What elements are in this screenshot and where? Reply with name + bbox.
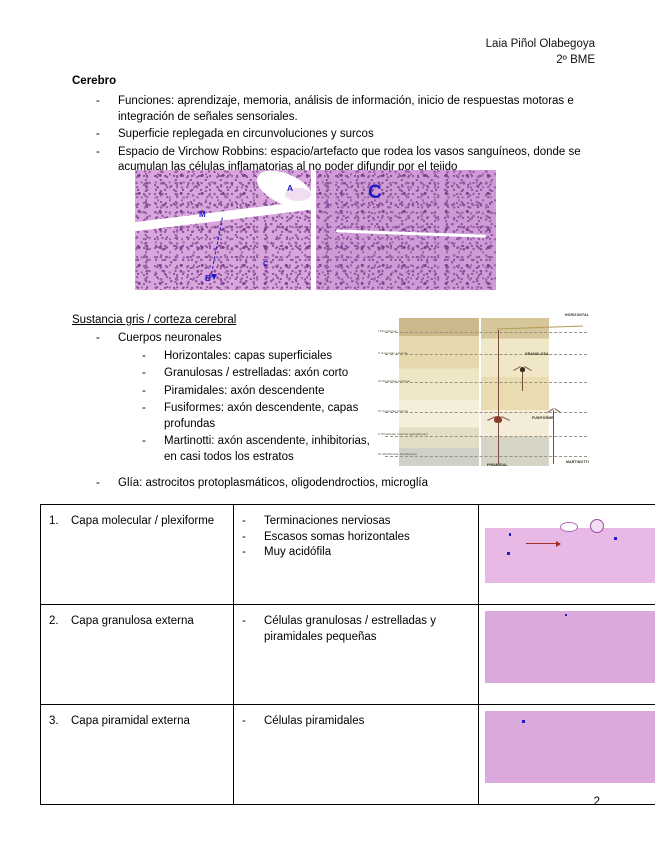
section-cerebro-title: Cerebro bbox=[72, 74, 592, 89]
bullet-dash: - bbox=[142, 349, 164, 365]
blue-marker-dot bbox=[507, 552, 510, 555]
neuron-axon-granule bbox=[522, 371, 523, 391]
figure-cortical-layers-diagram: I Plexiforme II Granular externa III Pir… bbox=[377, 310, 591, 475]
desc-item: - Células piramidales bbox=[242, 714, 470, 730]
row-number: 2. bbox=[49, 614, 71, 630]
table-row: 2. Capa granulosa externa - Células gran… bbox=[41, 605, 655, 705]
neuron-axon-pyramidal bbox=[498, 422, 499, 464]
table-cell-micrograph bbox=[479, 505, 655, 605]
sustancia-sub-4: - Fusiformes: axón descendente, capas pr… bbox=[142, 401, 372, 432]
sustancia-sub-3-text: Piramidales: axón descendente bbox=[164, 384, 372, 400]
table-cell-description: - Terminaciones nerviosas - Escasos soma… bbox=[234, 505, 479, 605]
layer-divider bbox=[385, 456, 587, 457]
sustancia-sub-5: - Martinotti: axón ascendente, inhibitor… bbox=[142, 434, 372, 465]
cajal-label-granulosa: GRANULOSA bbox=[525, 352, 549, 356]
cajal-label-fusiforme: FUSIFORME bbox=[532, 416, 554, 420]
desc-item: - Escasos somas horizontales bbox=[242, 530, 470, 546]
table-cell-layer-name: 3. Capa piramidal externa bbox=[41, 705, 234, 805]
table-cell-description: - Células granulosas / estrelladas y pir… bbox=[234, 605, 479, 705]
cerebro-bullet-1-text: Funciones: aprendizaje, memoria, análisi… bbox=[118, 94, 592, 125]
cajal-left-label-2: II Granular externa bbox=[378, 351, 408, 355]
sustancia-sub-1: - Horizontales: capas superficiales bbox=[142, 349, 372, 365]
label-M: M bbox=[199, 210, 206, 219]
cajal-left-label-3: III Piramidal externa bbox=[378, 379, 410, 383]
table-cell-description: - Células piramidales bbox=[234, 705, 479, 805]
layer-name: Capa piramidal externa bbox=[71, 714, 190, 730]
row-number: 1. bbox=[49, 514, 71, 530]
micrograph-pyramidal-layer bbox=[485, 711, 655, 783]
desc-item-text: Escasos somas horizontales bbox=[264, 530, 470, 546]
sustancia-sub-5-text: Martinotti: axón ascendente, inhibitoria… bbox=[164, 434, 372, 465]
row-number: 3. bbox=[49, 714, 71, 730]
sustancia-sub-4-text: Fusiformes: axón descendente, capas prof… bbox=[164, 401, 372, 432]
cerebro-bullet-2: - Superficie replegada en circunvolucion… bbox=[96, 127, 592, 143]
section-sustancia-gris: Sustancia gris / corteza cerebral - Cuer… bbox=[72, 313, 372, 465]
table-cell-layer-name: 1. Capa molecular / plexiforme bbox=[41, 505, 234, 605]
sustancia-sub-1-text: Horizontales: capas superficiales bbox=[164, 349, 372, 365]
bullet-dash: - bbox=[96, 94, 118, 110]
histology-image-virchow-robbins-left: M A B C bbox=[135, 170, 311, 290]
bullet-dash: - bbox=[96, 476, 118, 492]
cajal-label-martinotti: MARTINOTTI bbox=[566, 460, 589, 464]
label-C: C bbox=[263, 259, 268, 268]
table-row: 3. Capa piramidal externa - Células pira… bbox=[41, 705, 655, 805]
cortical-layers-table: 1. Capa molecular / plexiforme - Termina… bbox=[40, 504, 655, 805]
blue-marker-dot bbox=[614, 537, 617, 540]
vessel-cross-section bbox=[590, 519, 604, 533]
cajal-left-label-6: VI Multiforme (fusiforme) bbox=[378, 452, 417, 456]
layer-divider bbox=[385, 354, 587, 355]
label-A: A bbox=[287, 183, 293, 193]
bullet-dash: - bbox=[96, 127, 118, 143]
cajal-label-horizontal: HORIZONTAL bbox=[565, 313, 589, 317]
document-header: Laia Piñol Olabegoya 2º BME bbox=[486, 36, 595, 68]
red-annotation-arrow bbox=[526, 543, 560, 544]
desc-item-text: Muy acidófila bbox=[264, 545, 470, 561]
cerebro-bullet-1: - Funciones: aprendizaje, memoria, análi… bbox=[96, 94, 592, 125]
header-author: Laia Piñol Olabegoya bbox=[486, 36, 595, 52]
table-row: 1. Capa molecular / plexiforme - Termina… bbox=[41, 505, 655, 605]
layer-name: Capa molecular / plexiforme bbox=[71, 514, 214, 530]
bullet-dash: - bbox=[142, 401, 164, 417]
label-C: C bbox=[368, 182, 382, 204]
layer-name: Capa granulosa externa bbox=[71, 614, 194, 630]
blue-marker-dot bbox=[565, 614, 568, 617]
layer-divider bbox=[385, 382, 587, 383]
desc-item-text: Terminaciones nerviosas bbox=[264, 514, 470, 530]
desc-item: - Células granulosas / estrelladas y pir… bbox=[242, 614, 470, 645]
sustancia-sub-3: - Piramidales: axón descendente bbox=[142, 384, 372, 400]
header-course: 2º BME bbox=[486, 52, 595, 68]
cajal-left-label-4: IV Granular interna bbox=[378, 409, 408, 413]
page-number: 2 bbox=[594, 796, 600, 808]
sustancia-sub-2: - Granulosas / estrelladas: axón corto bbox=[142, 366, 372, 382]
table-cell-micrograph bbox=[479, 705, 655, 805]
table-cell-layer-name: 2. Capa granulosa externa bbox=[41, 605, 234, 705]
desc-item-text: Células piramidales bbox=[264, 714, 470, 730]
cortex-column-weigert bbox=[481, 318, 549, 466]
desc-item: - Muy acidófila bbox=[242, 545, 470, 561]
cerebro-bullet-2-text: Superficie replegada en circunvoluciones… bbox=[118, 127, 592, 143]
layer-divider bbox=[385, 332, 587, 333]
bullet-dash: - bbox=[242, 714, 264, 730]
blue-marker-dot bbox=[522, 720, 525, 723]
desc-item-text: Células granulosas / estrelladas y piram… bbox=[264, 614, 470, 645]
cajal-left-label-1: I Plexiforme bbox=[378, 329, 397, 333]
section-cerebro: Cerebro - Funciones: aprendizaje, memori… bbox=[72, 74, 592, 176]
bullet-dash: - bbox=[142, 366, 164, 382]
layer-divider bbox=[385, 436, 587, 437]
bullet-dash: - bbox=[142, 384, 164, 400]
section-sustancia-title: Sustancia gris / corteza cerebral bbox=[72, 313, 372, 328]
neuron-apical-dendrite bbox=[498, 330, 499, 417]
bullet-dash: - bbox=[242, 514, 264, 530]
sustancia-sub-2-text: Granulosas / estrelladas: axón corto bbox=[164, 366, 372, 382]
sustancia-bullet-main: - Cuerpos neuronales bbox=[96, 331, 372, 347]
bullet-dash: - bbox=[96, 145, 118, 161]
neuron-axon-fusiform bbox=[553, 410, 554, 464]
bullet-dash: - bbox=[142, 434, 164, 450]
micrograph-molecular-layer bbox=[485, 511, 655, 583]
cajal-left-label-5: V Piramidal interna (ganglionar) bbox=[378, 432, 428, 436]
table-cell-micrograph bbox=[479, 605, 655, 705]
layer-divider bbox=[385, 412, 587, 413]
cortex-column-golgi bbox=[399, 318, 479, 466]
micrograph-granular-layer bbox=[485, 611, 655, 683]
bullet-dash: - bbox=[242, 614, 264, 630]
section-glia: - Glía: astrocitos protoplasmáticos, oli… bbox=[72, 476, 572, 492]
desc-item: - Terminaciones nerviosas bbox=[242, 514, 470, 530]
sustancia-bullet-main-text: Cuerpos neuronales bbox=[118, 331, 372, 347]
histology-image-virchow-robbins-right: C bbox=[316, 170, 496, 290]
label-B: B bbox=[205, 274, 211, 283]
bullet-dash: - bbox=[242, 530, 264, 546]
document-page: Laia Piñol Olabegoya 2º BME Cerebro - Fu… bbox=[0, 0, 655, 848]
glia-bullet: - Glía: astrocitos protoplasmáticos, oli… bbox=[96, 476, 572, 492]
measure-arrow-head bbox=[211, 274, 217, 280]
blue-marker-dot bbox=[509, 533, 512, 536]
bullet-dash: - bbox=[96, 331, 118, 347]
glia-bullet-text: Glía: astrocitos protoplasmáticos, oligo… bbox=[118, 476, 572, 492]
vessel-cross-section bbox=[560, 522, 578, 532]
bullet-dash: - bbox=[242, 545, 264, 561]
